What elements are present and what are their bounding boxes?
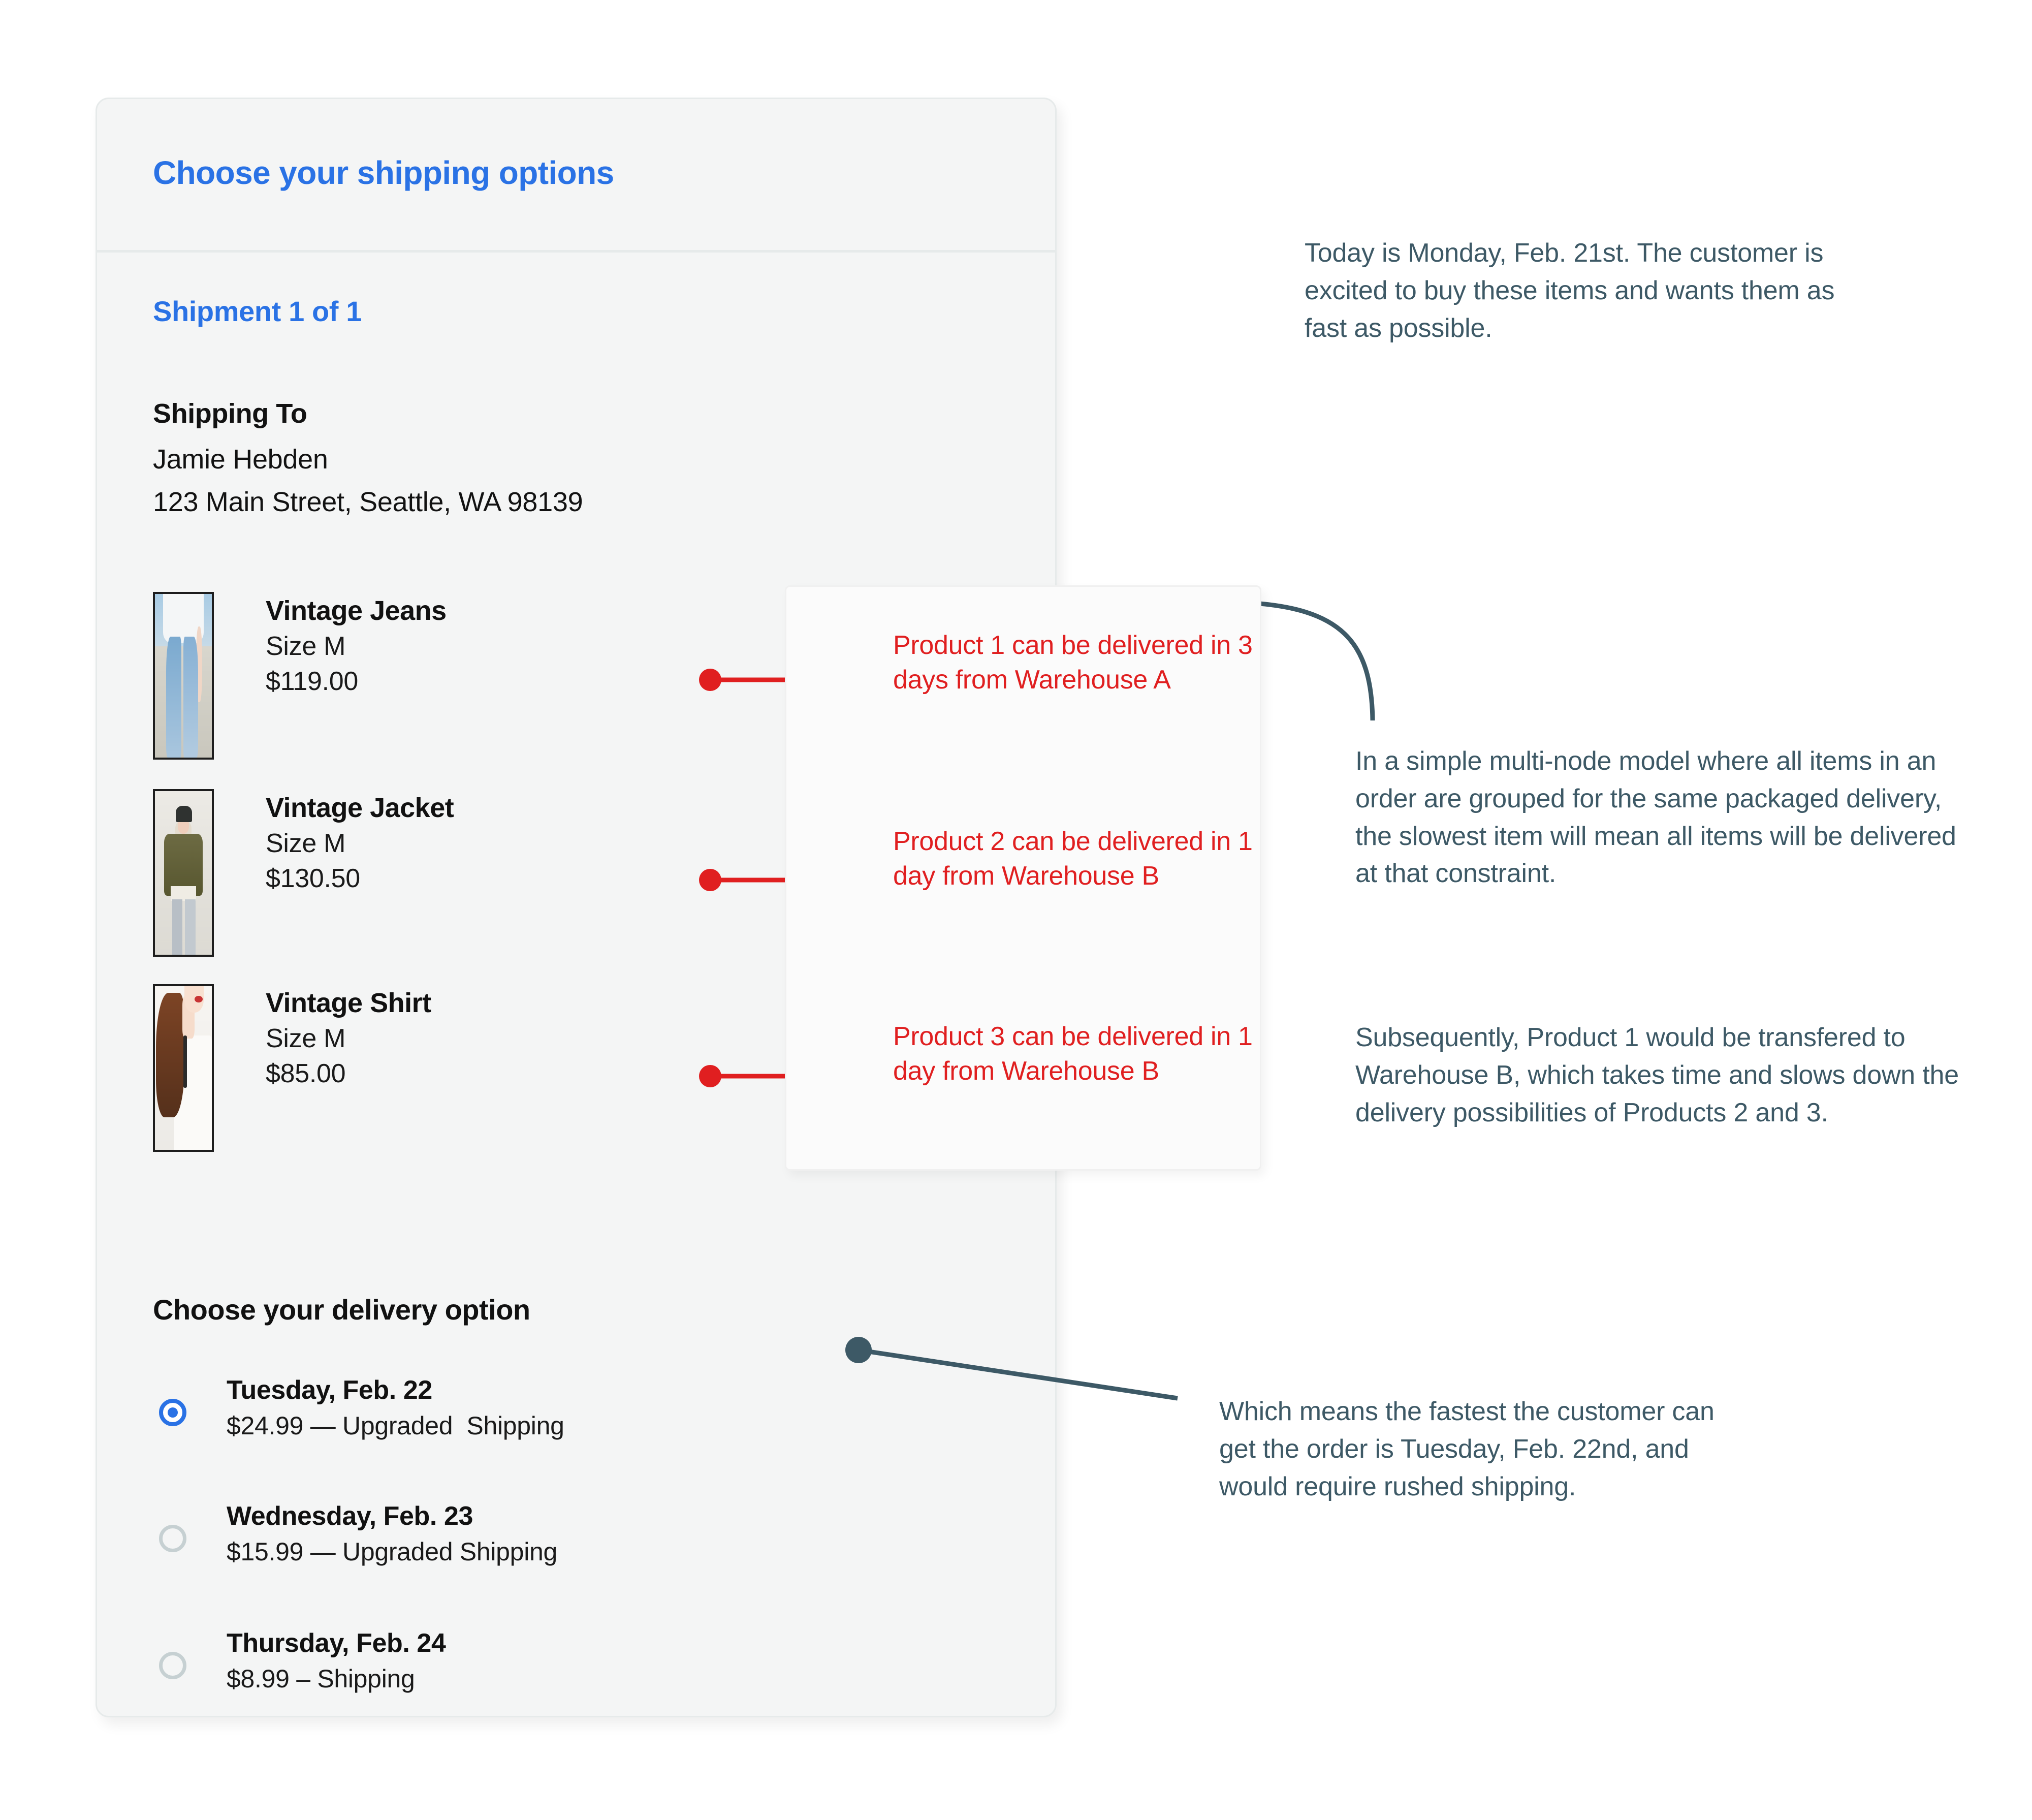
delivery-options-heading: Choose your delivery option <box>153 1293 530 1326</box>
delivery-option-thursday[interactable]: Thursday, Feb. 24 $8.99 – Shipping <box>153 1618 966 1740</box>
product-info: Vintage Jeans Size M $119.00 <box>266 597 447 695</box>
product-thumbnail-jeans <box>153 592 214 760</box>
radio-button-selected[interactable] <box>159 1399 186 1426</box>
product-name: Vintage Jeans <box>266 597 447 625</box>
product-size: Size M <box>266 633 447 660</box>
product-info: Vintage Shirt Size M $85.00 <box>266 989 431 1087</box>
product-name: Vintage Jacket <box>266 794 454 822</box>
delivery-option-wednesday[interactable]: Wednesday, Feb. 23 $15.99 — Upgraded Shi… <box>153 1491 966 1613</box>
product-size: Size M <box>266 1025 431 1052</box>
red-annotation-text: Product 2 can be delivered in 1 day from… <box>893 825 1259 893</box>
product-name: Vintage Shirt <box>266 989 431 1017</box>
radio-button[interactable] <box>159 1652 186 1679</box>
option-date: Thursday, Feb. 24 <box>227 1629 446 1657</box>
product-thumbnail-jacket <box>153 789 214 957</box>
red-annotation-text: Product 3 can be delivered in 1 day from… <box>893 1020 1259 1088</box>
customer-name: Jamie Hebden <box>153 444 328 475</box>
shipment-label: Shipment 1 of 1 <box>153 295 362 328</box>
option-date: Wednesday, Feb. 23 <box>227 1502 557 1530</box>
annotation-note-fastest: Which means the fastest the customer can… <box>1219 1393 1758 1505</box>
shipping-to-heading: Shipping To <box>153 398 307 429</box>
product-size: Size M <box>266 830 454 857</box>
option-price: $15.99 — Upgraded Shipping <box>227 1539 557 1565</box>
annotation-note-today: Today is Monday, Feb. 21st. The customer… <box>1305 235 1863 347</box>
red-annotation-text: Product 1 can be delivered in 3 days fro… <box>893 629 1259 697</box>
red-annotation-panel: Product 1 can be delivered in 3 days fro… <box>785 585 1261 1171</box>
annotation-note-multinode: In a simple multi-node model where all i… <box>1355 743 1980 893</box>
delivery-option-tuesday[interactable]: Tuesday, Feb. 22 $24.99 — Upgraded Shipp… <box>153 1365 966 1487</box>
option-date: Tuesday, Feb. 22 <box>227 1376 564 1404</box>
page-title: Choose your shipping options <box>153 154 614 192</box>
product-info: Vintage Jacket Size M $130.50 <box>266 794 454 892</box>
card-header: Choose your shipping options <box>97 99 1055 253</box>
product-price: $85.00 <box>266 1060 431 1087</box>
product-price: $130.50 <box>266 865 454 892</box>
option-price: $8.99 – Shipping <box>227 1666 446 1692</box>
option-price: $24.99 — Upgraded Shipping <box>227 1413 564 1439</box>
customer-address: 123 Main Street, Seattle, WA 98139 <box>153 486 583 518</box>
page-canvas: Choose your shipping options Shipment 1 … <box>0 0 2032 1820</box>
radio-button[interactable] <box>159 1525 186 1552</box>
annotation-note-transfer: Subsequently, Product 1 would be transfe… <box>1355 1019 1980 1132</box>
product-thumbnail-shirt <box>153 984 214 1152</box>
product-price: $119.00 <box>266 668 447 695</box>
